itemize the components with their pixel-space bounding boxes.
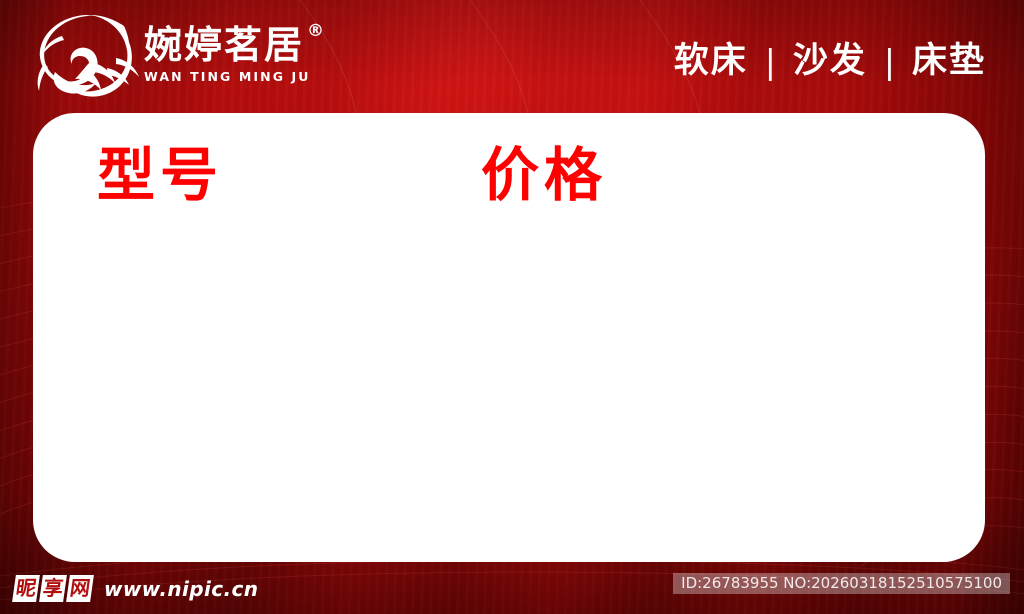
- field-label-model: 型号: [97, 146, 223, 204]
- category-item-ruanchuang: 软床: [674, 44, 748, 79]
- category-list: 软床 | 沙发 | 床垫: [674, 36, 986, 86]
- category-separator: |: [748, 45, 793, 78]
- brand-logo-text: 婉婷茗居 ® WAN TING MING JU: [144, 26, 324, 84]
- field-label-price: 价格: [481, 146, 607, 204]
- category-separator: |: [867, 45, 912, 78]
- phoenix-swirl-icon: [34, 12, 142, 98]
- category-item-chuangdian: 床垫: [912, 44, 986, 79]
- brand-logo: 婉婷茗居 ® WAN TING MING JU: [34, 9, 324, 101]
- price-tag-poster: 婉婷茗居 ® WAN TING MING JU 软床 | 沙发 | 床垫 型号 …: [0, 0, 1024, 614]
- white-content-card: 型号 价格: [33, 113, 985, 562]
- brand-name-cn: 婉婷茗居: [144, 26, 304, 64]
- poster-header: 婉婷茗居 ® WAN TING MING JU 软床 | 沙发 | 床垫: [0, 0, 1024, 113]
- brand-name-en: WAN TING MING JU: [144, 71, 324, 84]
- card-field-group: 型号 价格: [33, 113, 985, 562]
- category-item-shafa: 沙发: [793, 44, 867, 79]
- registered-trademark-icon: ®: [307, 23, 324, 40]
